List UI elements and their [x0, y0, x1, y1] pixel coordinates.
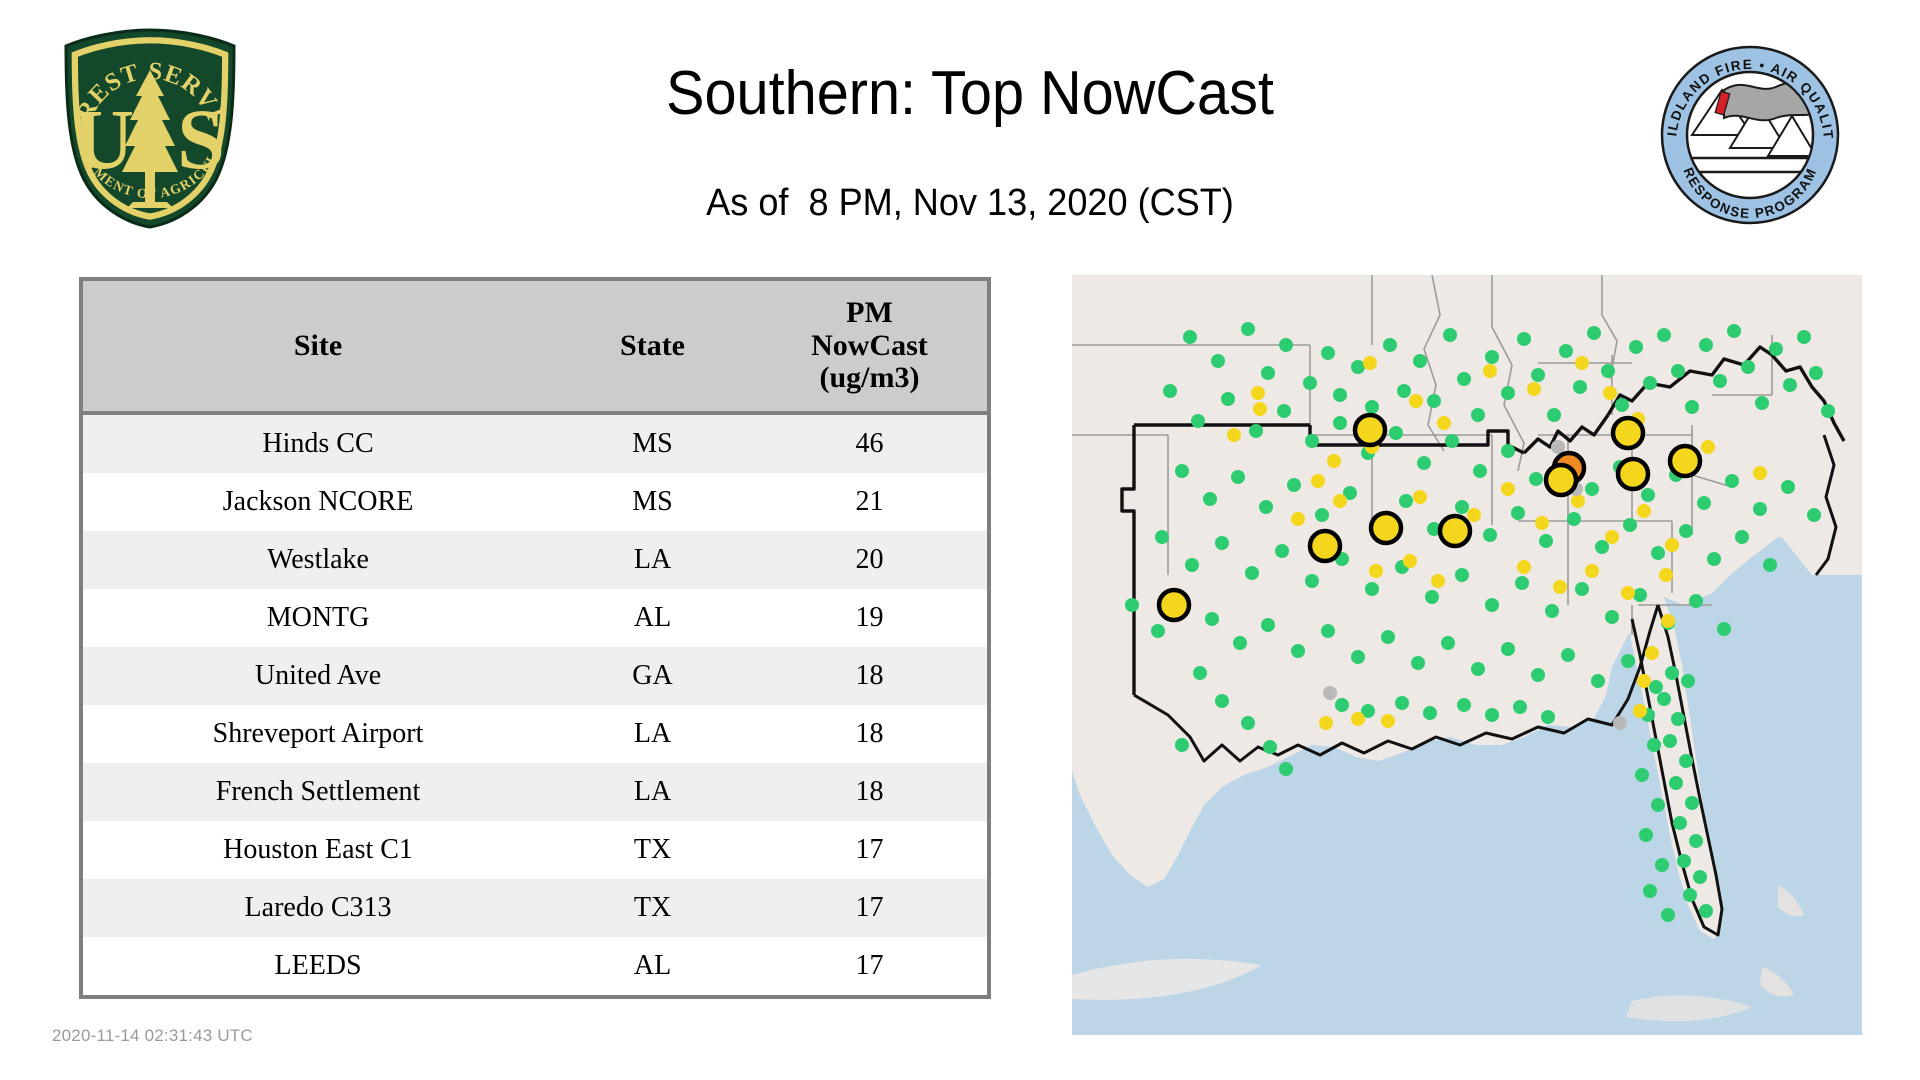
cell-value: 18 — [752, 705, 987, 763]
cell-value: 19 — [752, 589, 987, 647]
cell-site: Hinds CC — [83, 413, 553, 473]
table-row: French SettlementLA18 — [83, 763, 987, 821]
cell-site: United Ave — [83, 647, 553, 705]
nowcast-table: Site State PM NowCast (ug/m3) Hinds CCMS… — [83, 281, 987, 995]
cell-state: MS — [553, 473, 752, 531]
cell-value: 17 — [752, 879, 987, 937]
usfs-shield-logo: FOREST SERVICE DEPARTMENT OF AGRICULTURE… — [55, 26, 245, 231]
table-row: United AveGA18 — [83, 647, 987, 705]
table-row: Jackson NCOREMS21 — [83, 473, 987, 531]
table-row: Houston East C1TX17 — [83, 821, 987, 879]
usfs-letter-u: U — [72, 91, 134, 187]
cell-site: Laredo C313 — [83, 879, 553, 937]
cell-state: TX — [553, 821, 752, 879]
table-body: Hinds CCMS46Jackson NCOREMS21WestlakeLA2… — [83, 413, 987, 995]
cell-state: MS — [553, 413, 752, 473]
top-site-marker[interactable] — [1440, 516, 1470, 546]
column-header-state: State — [553, 281, 752, 413]
cell-state: AL — [553, 937, 752, 995]
column-header-pm-nowcast: PM NowCast (ug/m3) — [752, 281, 987, 413]
table-row: WestlakeLA20 — [83, 531, 987, 589]
column-header-pm-line1: PM — [752, 297, 987, 329]
cell-value: 17 — [752, 821, 987, 879]
cell-site: French Settlement — [83, 763, 553, 821]
cell-value: 18 — [752, 647, 987, 705]
top-site-marker[interactable] — [1371, 513, 1401, 543]
table-row: Hinds CCMS46 — [83, 413, 987, 473]
top-site-marker[interactable] — [1670, 446, 1700, 476]
cell-state: AL — [553, 589, 752, 647]
cell-site: Shreveport Airport — [83, 705, 553, 763]
nowcast-table-panel: Site State PM NowCast (ug/m3) Hinds CCMS… — [79, 277, 991, 999]
cell-value: 46 — [752, 413, 987, 473]
table-header: Site State PM NowCast (ug/m3) — [83, 281, 987, 413]
cell-value: 21 — [752, 473, 987, 531]
page-subtitle: As of 8 PM, Nov 13, 2020 (CST) — [457, 180, 1483, 226]
column-header-pm-line2: NowCast — [752, 330, 987, 362]
top-site-marker[interactable] — [1310, 531, 1340, 561]
generated-timestamp: 2020-11-14 02:31:43 UTC — [52, 1026, 253, 1046]
column-header-pm-line3: (ug/m3) — [752, 362, 987, 394]
map-canvas[interactable] — [1072, 275, 1862, 1035]
usfs-letter-s: S — [177, 91, 225, 187]
cell-state: LA — [553, 763, 752, 821]
cell-state: TX — [553, 879, 752, 937]
table-row: Shreveport AirportLA18 — [83, 705, 987, 763]
table-row: MONTGAL19 — [83, 589, 987, 647]
cell-site: Jackson NCORE — [83, 473, 553, 531]
column-header-site: Site — [83, 281, 553, 413]
top-site-marker[interactable] — [1355, 415, 1385, 445]
cell-state: LA — [553, 705, 752, 763]
aqi-map[interactable]: Air Quality Index HazardousVery Unhealth… — [1072, 275, 1862, 1035]
wfaqrp-logo: WILDLAND FIRE • AIR QUALITY RESPONSE PRO… — [1650, 38, 1850, 233]
top-site-marker[interactable] — [1618, 459, 1648, 489]
cell-value: 18 — [752, 763, 987, 821]
top-site-marker[interactable] — [1613, 418, 1643, 448]
cell-site: Westlake — [83, 531, 553, 589]
cell-site: Houston East C1 — [83, 821, 553, 879]
cell-state: GA — [553, 647, 752, 705]
cell-value: 20 — [752, 531, 987, 589]
cell-site: LEEDS — [83, 937, 553, 995]
cell-site: MONTG — [83, 589, 553, 647]
cell-value: 17 — [752, 937, 987, 995]
top-site-marker[interactable] — [1546, 465, 1576, 495]
cell-state: LA — [553, 531, 752, 589]
top-site-marker[interactable] — [1159, 590, 1189, 620]
page-title: Southern: Top NowCast — [468, 58, 1472, 130]
table-row: LEEDSAL17 — [83, 937, 987, 995]
table-row: Laredo C313TX17 — [83, 879, 987, 937]
